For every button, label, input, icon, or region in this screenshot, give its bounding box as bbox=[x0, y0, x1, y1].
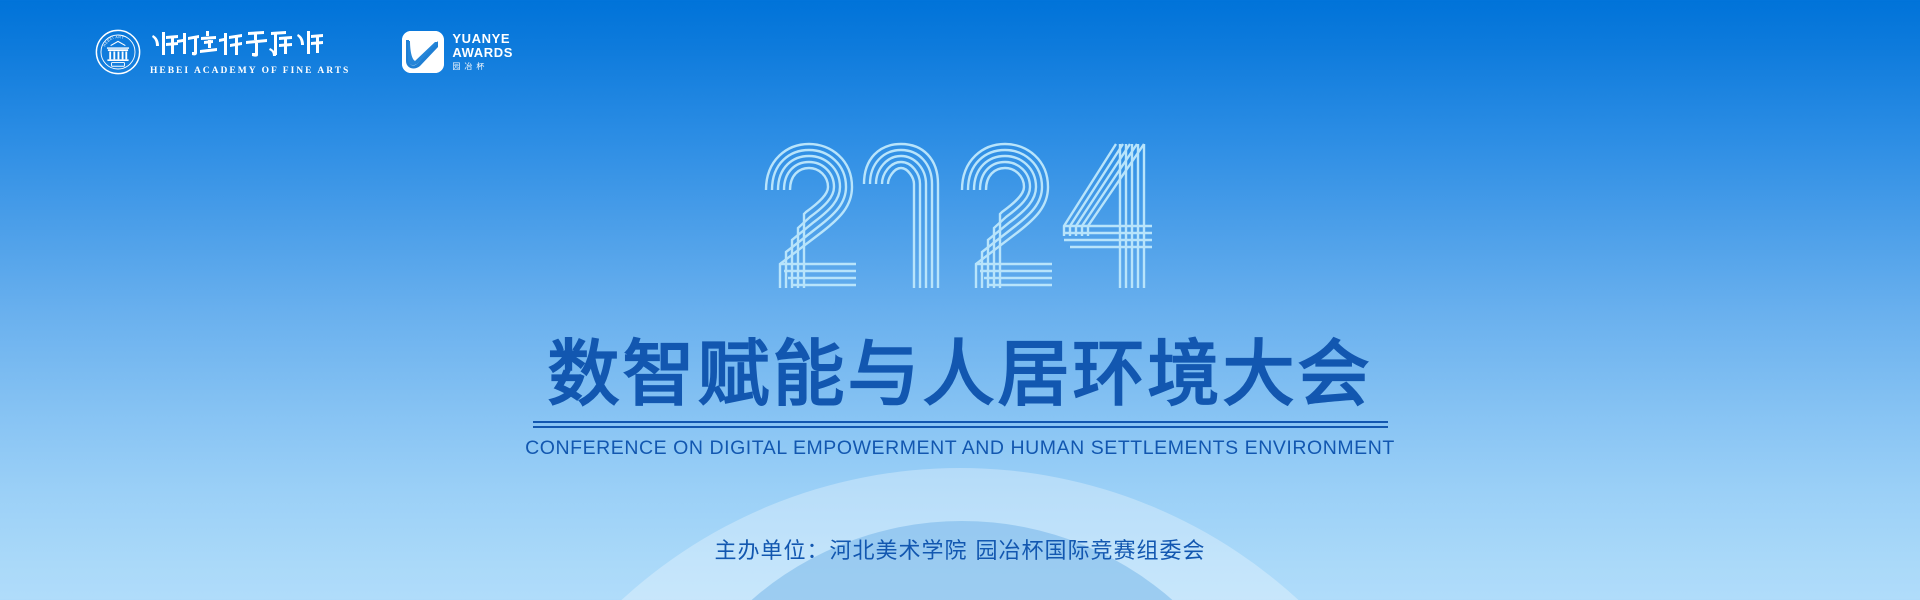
year-2024-svg bbox=[760, 140, 1160, 292]
organizer-line: 主办单位：河北美术学院 园冶杯国际竞赛组委会 bbox=[0, 533, 1920, 565]
academy-name-en: HEBEI ACADEMY OF FINE ARTS bbox=[150, 66, 350, 76]
divider-line-top bbox=[533, 421, 1388, 423]
headline-block: 数智赋能与人居环境大会 CONFERENCE ON DIGITAL EMPOWE… bbox=[0, 338, 1920, 460]
svg-text:HEBEI ART: HEBEI ART bbox=[102, 35, 124, 47]
award-line2: AWARDS bbox=[452, 46, 513, 60]
award-line1: YUANYE bbox=[452, 32, 513, 46]
yuanye-swoosh-icon bbox=[402, 31, 444, 73]
title-divider bbox=[533, 421, 1388, 428]
year-graphic bbox=[0, 140, 1920, 292]
logo-bar: HEBEI ART bbox=[95, 28, 513, 76]
academy-logo: HEBEI ART bbox=[95, 28, 350, 76]
award-name-group: YUANYE AWARDS 园冶杯 bbox=[452, 32, 513, 72]
divider-line-bottom bbox=[533, 426, 1388, 428]
academy-name-group: HEBEI ACADEMY OF FINE ARTS bbox=[150, 28, 350, 76]
award-logo: YUANYE AWARDS 园冶杯 bbox=[402, 31, 513, 73]
page-subtitle: CONFERENCE ON DIGITAL EMPOWERMENT AND HU… bbox=[0, 437, 1920, 460]
academy-name-cn bbox=[150, 28, 350, 64]
academy-seal-icon: HEBEI ART bbox=[95, 29, 141, 75]
award-name-cn: 园冶杯 bbox=[452, 61, 513, 72]
page-title: 数智赋能与人居环境大会 bbox=[0, 338, 1920, 410]
